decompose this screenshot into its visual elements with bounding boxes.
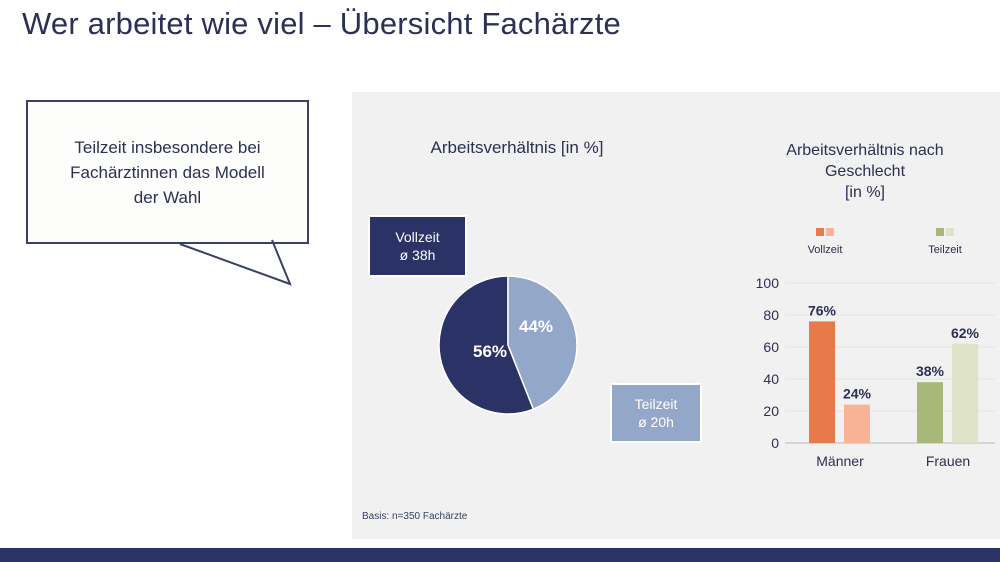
svg-text:80: 80 xyxy=(763,307,779,323)
legend-swatch-vollzeit xyxy=(780,228,870,239)
pie-chart-title: Arbeitsverhältnis [in %] xyxy=(352,138,682,158)
svg-text:40: 40 xyxy=(763,371,779,387)
legend-label-teilzeit: Teilzeit xyxy=(900,244,990,256)
bar-frauen-teilzeit xyxy=(952,344,978,443)
bar-category-maenner: Männer xyxy=(816,453,864,469)
bar-maenner-vollzeit xyxy=(809,321,835,443)
bar-chart-legend: Vollzeit Teilzeit xyxy=(745,228,995,270)
bar-value-frauen-teilzeit: 62% xyxy=(951,325,980,341)
bar-chart-title: Arbeitsverhältnis nach Geschlecht [in %] xyxy=(735,140,995,203)
bar-value-maenner-vollzeit: 76% xyxy=(808,302,837,318)
page-title: Wer arbeitet wie viel – Übersicht Fachär… xyxy=(22,6,621,42)
svg-text:0: 0 xyxy=(771,435,779,451)
legend-swatch-teilzeit xyxy=(900,228,990,239)
svg-text:20: 20 xyxy=(763,403,779,419)
pie-value-vollzeit: 56% xyxy=(473,342,507,361)
callout-text: Teilzeit insbesondere bei Fachärztinnen … xyxy=(28,135,307,210)
pie-label-teilzeit: Teilzeit ø 20h xyxy=(610,383,702,443)
bottom-accent-bar xyxy=(0,548,1000,562)
bar-chart: 100 80 60 40 20 0 76% 24% 38% 62% Männer… xyxy=(745,270,995,480)
callout-bubble: Teilzeit insbesondere bei Fachärztinnen … xyxy=(26,100,309,244)
chart-footnote: Basis: n=350 Fachärzte xyxy=(362,511,467,522)
pie-label-vollzeit: Vollzeit ø 38h xyxy=(368,215,467,277)
callout-tail-icon xyxy=(180,238,300,290)
svg-text:60: 60 xyxy=(763,339,779,355)
bar-value-frauen-vollzeit: 38% xyxy=(916,363,945,379)
bar-chart-y-axis: 100 80 60 40 20 0 xyxy=(756,275,780,451)
bar-category-frauen: Frauen xyxy=(926,453,970,469)
bar-maenner-teilzeit xyxy=(844,405,870,443)
bar-value-maenner-teilzeit: 24% xyxy=(843,386,872,402)
bar-frauen-vollzeit xyxy=(917,382,943,443)
legend-item-vollzeit: Vollzeit xyxy=(780,228,870,256)
pie-chart: 56% 44% xyxy=(438,275,578,415)
legend-label-vollzeit: Vollzeit xyxy=(780,244,870,256)
svg-text:100: 100 xyxy=(756,275,780,291)
legend-item-teilzeit: Teilzeit xyxy=(900,228,990,256)
pie-value-teilzeit: 44% xyxy=(519,317,553,336)
